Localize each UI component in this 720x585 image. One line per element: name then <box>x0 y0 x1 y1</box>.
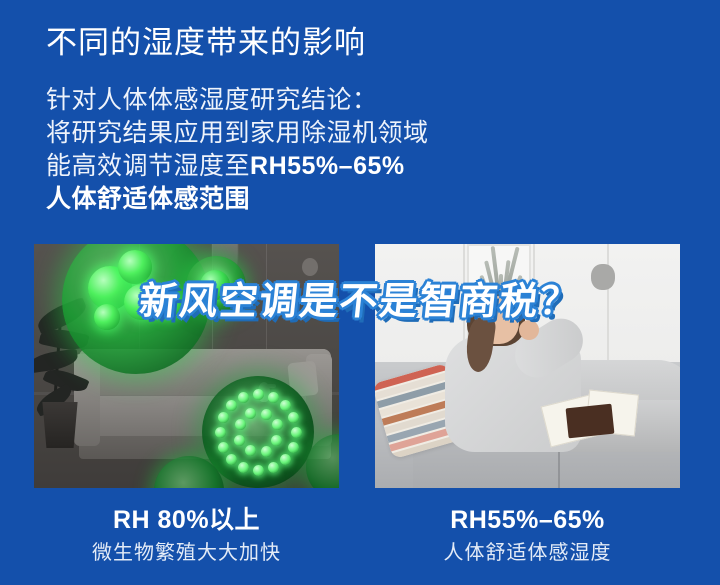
virus-spike-icon <box>245 445 256 456</box>
virus-spike-icon <box>253 389 264 400</box>
virus-spike-icon <box>218 442 229 453</box>
virus-spike-icon <box>271 435 282 446</box>
book-spine <box>566 404 615 439</box>
virus-spike-icon <box>280 454 291 465</box>
virus-spike-icon <box>261 409 272 420</box>
caption-right-subtitle: 人体舒适体感湿度 <box>375 541 680 566</box>
sofa-arm-left <box>74 354 100 446</box>
overlay-headline: 新风空调是不是智商税？ <box>0 270 720 325</box>
caption-right-title: RH55%–65% <box>375 505 680 535</box>
virus-spike-icon <box>261 446 272 457</box>
virus-sphere-icon <box>202 376 314 488</box>
lede-line-2: 将研究结果应用到家用除湿机领域 <box>46 117 516 150</box>
virus-spike-icon <box>238 462 249 473</box>
plant-pot <box>40 402 80 448</box>
lede-line-3-text: 能高效调节湿度至 <box>46 152 250 180</box>
virus-spike-icon <box>272 419 283 430</box>
caption-left: RH 80%以上 微生物繁殖大大加快 <box>34 505 339 566</box>
virus-spike-icon <box>288 412 299 423</box>
virus-spike-icon <box>226 454 237 465</box>
page-title: 不同的湿度带来的影响 <box>46 20 366 66</box>
open-book-icon <box>545 392 637 448</box>
virus-spike-icon <box>234 435 245 446</box>
lede-humidity-range: RH55%–65% <box>250 152 405 180</box>
poster-root: 不同的湿度带来的影响 针对人体体感湿度研究结论： 将研究结果应用到家用除湿机领域… <box>0 0 720 585</box>
virus-spike-icon <box>215 427 226 438</box>
virus-spike-icon <box>280 400 291 411</box>
virus-spike-icon <box>218 412 229 423</box>
caption-left-title: RH 80%以上 <box>34 505 339 535</box>
virus-spike-icon <box>268 392 279 403</box>
lede-line-3: 能高效调节湿度至RH55%–65% <box>46 150 516 183</box>
virus-spike-icon <box>245 408 256 419</box>
virus-spike-icon <box>235 419 246 430</box>
virus-spike-icon <box>291 427 302 438</box>
virus-spike-icon <box>268 462 279 473</box>
lede-line-1: 针对人体体感湿度研究结论： <box>46 84 516 117</box>
lede-line-4: 人体舒适体感范围 <box>46 183 516 216</box>
caption-right: RH55%–65% 人体舒适体感湿度 <box>375 505 680 566</box>
virus-spike-icon <box>238 392 249 403</box>
virus-spike-icon <box>288 442 299 453</box>
virus-spike-icon <box>253 465 264 476</box>
virus-spike-icon <box>226 400 237 411</box>
caption-left-subtitle: 微生物繁殖大大加快 <box>34 541 339 566</box>
lede-block: 针对人体体感湿度研究结论： 将研究结果应用到家用除湿机领域 能高效调节湿度至RH… <box>46 84 516 216</box>
